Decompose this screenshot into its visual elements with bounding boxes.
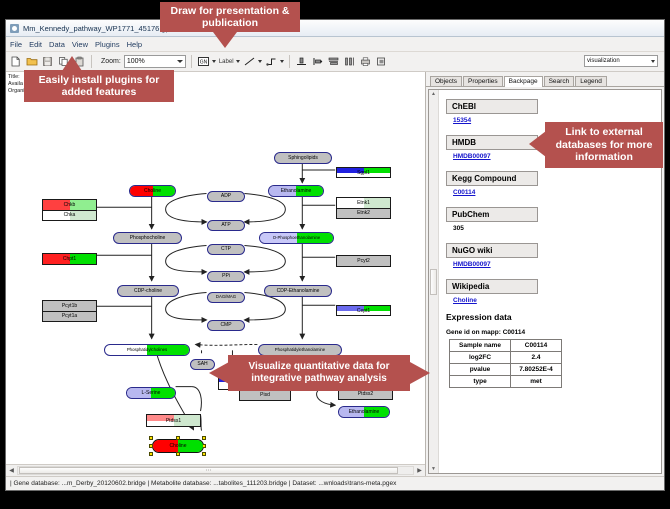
metabolite-node[interactable]: Phosphocholine [113, 232, 182, 244]
toolbar: Zoom: 100% GN Label [6, 52, 664, 72]
save-icon[interactable] [41, 55, 54, 68]
pathway-canvas-panel: Title: Availa Organi [6, 72, 426, 476]
open-folder-icon[interactable] [25, 55, 38, 68]
expression-data-heading: Expression data [446, 312, 655, 322]
node-label: Pcyt1b [62, 303, 77, 309]
gene-node-pcyt2[interactable]: Pcyt2 [336, 255, 391, 267]
gene-node-pcyt1[interactable]: Pcyt1b Pcyt1a [42, 300, 97, 322]
gene-node-chk[interactable]: Chkb Chka [42, 199, 97, 221]
connector-icon [265, 55, 278, 68]
line-icon [243, 55, 256, 68]
table-cell-key: log2FC [450, 352, 511, 364]
metabolite-node-selected[interactable]: Choline [152, 439, 204, 453]
pathway-meta: Title: Availa Organi [8, 74, 25, 95]
node-label: L-Serine [142, 391, 161, 396]
chevron-down-icon [258, 60, 262, 63]
db-header-hmdb: HMDB [446, 135, 538, 150]
scroll-track[interactable]: ⋯ [17, 466, 414, 475]
node-label: DAG/MAG [216, 295, 236, 299]
status-bar-text: | Gene database: ...m_Derby_20120602.bri… [10, 480, 396, 487]
connector-tool[interactable] [265, 55, 284, 68]
node-label: Pisd [260, 392, 270, 398]
menu-item-help[interactable]: Help [127, 40, 142, 49]
metabolite-node[interactable]: CDP-choline [117, 285, 179, 297]
title-bar: Mm_Kennedy_pathway_WP1771_45176.gpml [6, 20, 664, 37]
align-top-icon[interactable] [295, 55, 308, 68]
pathway-meta-organism: Organi [8, 88, 25, 95]
chevron-down-icon [236, 60, 240, 63]
table-cell-value: 7.80252E-4 [511, 364, 562, 376]
node-label: Phosphocholine [130, 236, 166, 241]
expression-table: Sample name C00114 log2FC 2.4 pvalue 7.8… [449, 339, 562, 388]
metabolite-node[interactable]: Ethanolamine [268, 185, 324, 197]
metabolite-node[interactable]: DAG/MAG [207, 292, 245, 303]
visualize-callout: Visualize quantitative data for integrat… [228, 355, 410, 391]
node-label: Cept1 [357, 308, 370, 314]
chevron-down-icon [651, 60, 655, 63]
node-label: SAH [197, 362, 207, 367]
metabolite-node[interactable]: L-Serine [126, 387, 176, 399]
db-link-nugo[interactable]: HMDB00097 [453, 261, 655, 268]
gene-id-label: Gene id on mapp: C00114 [446, 329, 655, 336]
gene-node-etnk[interactable]: Etnk1 Etnk2 [336, 197, 391, 219]
db-link-kegg[interactable]: C00114 [453, 189, 655, 196]
scroll-thumb[interactable]: ⋯ [19, 467, 398, 474]
table-cell-value: 2.4 [511, 352, 562, 364]
node-label: O-Phosphoethanolamine [273, 236, 321, 240]
gene-node-ptdss1[interactable]: Ptdss1 [146, 414, 201, 427]
tab-properties[interactable]: Properties [463, 76, 503, 86]
selection-handle[interactable] [176, 452, 180, 456]
table-cell-value: met [511, 376, 562, 388]
db-header-pubchem: PubChem [446, 207, 538, 222]
scroll-down-icon[interactable]: ▼ [431, 466, 436, 472]
table-cell-key: Sample name [450, 340, 511, 352]
draw-callout-arrow [213, 32, 237, 48]
metabolite-node[interactable]: ADP [207, 191, 245, 202]
visualization-value: visualization [587, 58, 620, 64]
zoom-value: 100% [127, 58, 145, 65]
toolbar-separator [191, 55, 192, 68]
db-link-wikipedia[interactable]: Choline [453, 297, 655, 304]
selection-handle[interactable] [202, 452, 206, 456]
table-cell-key: type [450, 376, 511, 388]
tab-legend[interactable]: Legend [575, 76, 607, 86]
node-label: Choline [170, 444, 187, 449]
table-row: Sample name C00114 [450, 340, 562, 352]
metabolite-node[interactable]: O-Phosphoethanolamine [259, 232, 334, 244]
label-tool[interactable]: Label [219, 59, 240, 65]
db-header-kegg: Kegg Compound [446, 171, 538, 186]
canvas-horizontal-scrollbar[interactable]: ◀ ⋯ ▶ [6, 464, 425, 476]
tab-objects[interactable]: Objects [430, 76, 462, 86]
metabolite-node[interactable]: ATP [207, 220, 245, 231]
chevron-down-icon [177, 60, 183, 63]
node-label: Ptdss2 [358, 391, 373, 397]
scroll-left-icon[interactable]: ◀ [6, 465, 17, 476]
scroll-thumb[interactable] [430, 269, 437, 295]
metabolite-node[interactable]: Choline [129, 185, 176, 197]
table-cell-key: pvalue [450, 364, 511, 376]
menu-item-edit[interactable]: Edit [29, 40, 42, 49]
new-file-icon[interactable] [9, 55, 22, 68]
metabolite-node[interactable]: CDP-Ethanolamine [264, 285, 332, 297]
table-cell-value: C00114 [511, 340, 562, 352]
table-row: log2FC 2.4 [450, 352, 562, 364]
datanode-tool[interactable]: GN [197, 55, 216, 68]
toolbar-separator [91, 55, 92, 68]
metabolite-node[interactable]: Sphingolipids [274, 152, 332, 164]
gene-node-cept1[interactable]: Cept1 [336, 305, 391, 316]
svg-text:GN: GN [200, 59, 208, 65]
metabolite-node[interactable]: CTP [207, 244, 245, 255]
node-label: CTP [221, 247, 231, 252]
line-tool[interactable] [243, 55, 262, 68]
draw-callout: Draw for presentation & publication [160, 2, 300, 32]
menu-bar: File Edit Data View Plugins Help [6, 37, 664, 52]
metabolite-node[interactable]: CMP [207, 320, 245, 331]
menu-item-data[interactable]: Data [49, 40, 65, 49]
table-row: type met [450, 376, 562, 388]
pathway-canvas[interactable]: Title: Availa Organi [6, 72, 425, 464]
links-callout: Link to external databases for more info… [545, 122, 663, 168]
toolbar-separator [289, 55, 290, 68]
db-header-wikipedia: Wikipedia [446, 279, 538, 294]
node-label: Pcyt2 [357, 258, 370, 264]
visualize-callout-arrow-left [209, 362, 229, 384]
node-label: Ethanolamine [349, 410, 380, 415]
window-title: Mm_Kennedy_pathway_WP1771_45176.gpml [23, 24, 178, 33]
node-label: ADP [221, 194, 231, 199]
pathway-meta-availability: Availa [8, 81, 25, 88]
node-label: Etnk1 [357, 200, 370, 206]
node-label: Phosphatidylcholines [127, 348, 167, 352]
visualization-select[interactable]: visualization [584, 55, 658, 67]
node-label: Sphingolipids [288, 156, 318, 161]
side-tabs: Objects Properties Backpage Search Legen… [426, 72, 664, 87]
backpage-scrollbar[interactable]: ▲ ▼ [429, 90, 439, 473]
align-left-icon[interactable] [311, 55, 324, 68]
pathvisio-icon [10, 24, 19, 33]
node-label: Phosphatidylethanolamine [275, 348, 325, 352]
node-label: PPi [222, 274, 230, 279]
zoom-select[interactable]: 100% [124, 55, 186, 68]
pathway-meta-title: Title: [8, 74, 25, 81]
datanode-icon: GN [197, 55, 210, 68]
node-label: Choline [144, 189, 161, 194]
zoom-label: Zoom: [101, 58, 121, 65]
node-label: Chpt1 [63, 256, 76, 262]
tab-backpage[interactable]: Backpage [504, 76, 543, 87]
tab-search[interactable]: Search [544, 76, 575, 86]
node-label: Ethanolamine [281, 189, 312, 194]
chevron-down-icon [212, 60, 216, 63]
status-bar: | Gene database: ...m_Derby_20120602.bri… [6, 476, 664, 490]
gene-node-chpt1[interactable]: Chpt1 [42, 253, 97, 265]
node-label: CDP-choline [134, 289, 162, 294]
label-tool-text: Label [219, 59, 234, 65]
print-icon[interactable] [359, 55, 372, 68]
menu-item-plugins[interactable]: Plugins [95, 40, 120, 49]
metabolite-node[interactable]: Ethanolamine [338, 406, 390, 418]
group-icon[interactable] [375, 55, 388, 68]
distribute-vertical-icon[interactable] [327, 55, 340, 68]
plugins-callout: Easily install plugins for added feature… [24, 70, 174, 102]
gene-node-sgpl1[interactable]: Sgpl1 [336, 167, 391, 178]
db-header-nugo: NuGO wiki [446, 243, 538, 258]
node-label: Pcyt1a [62, 313, 77, 319]
scroll-up-icon[interactable]: ▲ [431, 91, 436, 97]
metabolite-node[interactable]: Phosphatidylcholines [104, 344, 190, 356]
node-label: CDP-Ethanolamine [277, 289, 320, 294]
node-label: Etnk2 [357, 210, 370, 216]
node-label: Sgpl1 [357, 170, 370, 176]
scroll-right-icon[interactable]: ▶ [414, 465, 425, 476]
node-label: Ptdss1 [166, 418, 181, 424]
node-label: Chkb [64, 202, 76, 208]
metabolite-node[interactable]: PPi [207, 271, 245, 282]
node-label: ATP [221, 223, 230, 228]
links-callout-arrow [529, 131, 546, 157]
table-row: pvalue 7.80252E-4 [450, 364, 562, 376]
chevron-down-icon [280, 60, 284, 63]
distribute-horizontal-icon[interactable] [343, 55, 356, 68]
screenshot-root: Mm_Kennedy_pathway_WP1771_45176.gpml Fil… [0, 0, 670, 509]
node-label: CMP [220, 323, 231, 328]
db-header-chebi: ChEBI [446, 99, 538, 114]
node-label: Chka [64, 212, 76, 218]
visualize-callout-arrow-right [410, 362, 430, 384]
plugins-callout-arrow [62, 56, 82, 71]
db-value-pubchem: 305 [453, 225, 655, 232]
selection-handle[interactable] [149, 452, 153, 456]
menu-item-file[interactable]: File [10, 40, 22, 49]
menu-item-view[interactable]: View [72, 40, 88, 49]
